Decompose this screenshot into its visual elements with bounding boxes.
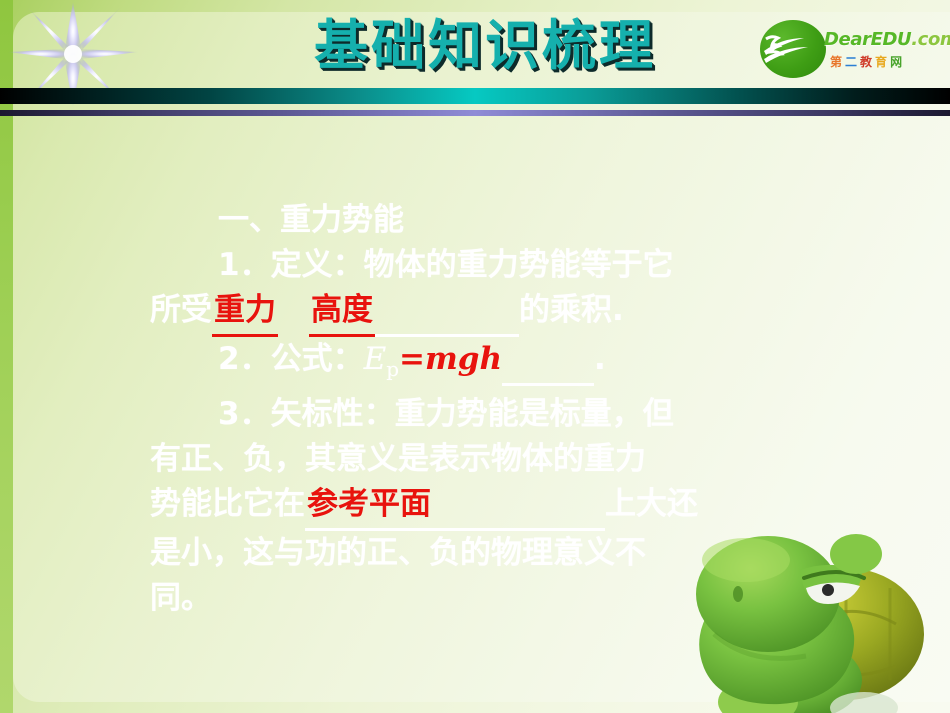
answer-blank-reference-plane: 参考平面 (305, 482, 433, 531)
formula-period: . (594, 341, 606, 377)
logo-brand-text: DearEDU.com (824, 29, 950, 50)
logo-sub-char-4: 育 (875, 55, 890, 69)
header-purple-divider (0, 110, 950, 116)
answer-blank-gravity: 重力 (212, 288, 278, 337)
slide-root: 基础知识梳理 DearEDU.com 第二教育网 一、重力势能 1．定义：物体的… (0, 0, 950, 713)
answer-blank-height: 高度 (309, 288, 375, 337)
definition-spacer (278, 292, 309, 328)
text-line-definition-cont: 所受重力 高度 的乘积. (150, 288, 830, 337)
logo-sub-char-1: 第 (830, 55, 845, 69)
slide-content: 一、重力势能 1．定义：物体的重力势能等于它 所受重力 高度 的乘积. 2．公式… (0, 128, 950, 713)
text-line-scalarity: 3．矢标性：重力势能是标量，但 (150, 392, 830, 437)
header-teal-divider (0, 88, 950, 104)
logo-sub-char-5: 网 (890, 55, 905, 69)
formula-subscript-p: p (386, 357, 399, 381)
definition-text: 1．定义：物体的重力势能等于它 (218, 247, 674, 283)
logo-brand-suffix: .com (911, 29, 950, 50)
slide-header: 基础知识梳理 DearEDU.com 第二教育网 (0, 0, 950, 120)
text-line-scalarity-2: 有正、负，其意义是表示物体的重力 (150, 437, 830, 482)
text-line-definition: 1．定义：物体的重力势能等于它 (150, 243, 830, 288)
scalarity-text-5: 同。 (150, 580, 212, 616)
logo-sub-char-2: 二 (845, 55, 860, 69)
formula-E: E (364, 341, 387, 377)
deareducom-logo[interactable]: DearEDU.com 第二教育网 (758, 17, 934, 79)
logo-subtitle-chars: 第二教育网 (830, 53, 905, 70)
heading-gravity-pe: 一、重力势能 (218, 202, 404, 238)
scalarity-prefix-3: 势能比它在 (150, 486, 305, 522)
formula-label: 2．公式： (218, 341, 364, 377)
scalarity-text-2: 有正、负，其意义是表示物体的重力 (150, 441, 646, 477)
logo-sub-char-3: 教 (860, 55, 875, 69)
definition-suffix: 的乘积. (519, 292, 624, 328)
logo-swoosh-icon (758, 17, 830, 79)
scalarity-text-4: 是小，这与功的正、负的物理意义不 (150, 535, 646, 571)
logo-brand-name: DearEDU (824, 29, 911, 50)
definition-prefix: 所受 (150, 292, 212, 328)
text-line-heading: 一、重力势能 (150, 198, 830, 243)
answer-blank-formula: =mgh (399, 341, 502, 377)
turtle-mascot (650, 502, 950, 713)
formula-symbol-E: Ep (364, 341, 399, 377)
text-line-formula: 2．公式：Ep=mgh . (150, 337, 830, 392)
scalarity-text: 3．矢标性：重力势能是标量，但 (218, 396, 674, 432)
